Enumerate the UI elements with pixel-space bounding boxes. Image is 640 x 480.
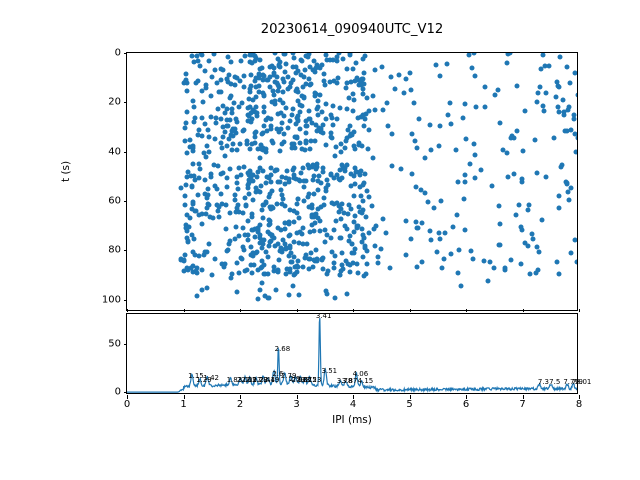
scatter-point bbox=[304, 139, 309, 144]
scatter-point bbox=[362, 71, 367, 76]
scatter-y-tick-label: 80 bbox=[75, 245, 121, 256]
scatter-point bbox=[297, 293, 302, 298]
scatter-point bbox=[463, 172, 468, 177]
scatter-point bbox=[183, 253, 188, 258]
scatter-point bbox=[290, 107, 295, 112]
scatter-point bbox=[324, 271, 329, 276]
scatter-point bbox=[260, 168, 265, 173]
scatter-point bbox=[244, 203, 249, 208]
scatter-x-tick-mark bbox=[240, 309, 241, 313]
scatter-point bbox=[455, 270, 460, 275]
scatter-point bbox=[295, 134, 300, 139]
scatter-point bbox=[246, 97, 251, 102]
scatter-point bbox=[299, 146, 304, 151]
scatter-point bbox=[283, 272, 288, 277]
scatter-point bbox=[222, 130, 227, 135]
scatter-point bbox=[472, 73, 477, 78]
scatter-point bbox=[294, 202, 299, 207]
scatter-point bbox=[205, 195, 210, 200]
scatter-point bbox=[472, 53, 477, 56]
scatter-point bbox=[354, 169, 359, 174]
scatter-point bbox=[284, 106, 289, 111]
scatter-point bbox=[288, 244, 293, 249]
scatter-point bbox=[278, 59, 283, 64]
scatter-point bbox=[386, 124, 391, 129]
scatter-point bbox=[332, 154, 337, 159]
scatter-point bbox=[260, 130, 265, 135]
scatter-point bbox=[302, 95, 307, 100]
scatter-point bbox=[213, 184, 218, 189]
scatter-point bbox=[338, 150, 343, 155]
scatter-point bbox=[390, 164, 395, 169]
scatter-point bbox=[542, 108, 547, 113]
scatter-point bbox=[467, 161, 472, 166]
scatter-point bbox=[254, 110, 259, 115]
scatter-point bbox=[260, 264, 265, 269]
scatter-point bbox=[472, 176, 477, 181]
scatter-point bbox=[497, 243, 502, 248]
scatter-point bbox=[249, 120, 254, 125]
scatter-point bbox=[514, 83, 519, 88]
scatter-point bbox=[307, 109, 312, 114]
scatter-point bbox=[462, 101, 467, 106]
scatter-point bbox=[245, 237, 250, 242]
scatter-point bbox=[253, 56, 258, 61]
scatter-point bbox=[246, 114, 251, 119]
scatter-point bbox=[328, 172, 333, 177]
scatter-point bbox=[359, 240, 364, 245]
scatter-point bbox=[225, 184, 230, 189]
scatter-point bbox=[557, 194, 562, 199]
scatter-point bbox=[264, 249, 269, 254]
scatter-point bbox=[259, 146, 264, 151]
scatter-point bbox=[209, 75, 214, 80]
histogram-axes: 050 012345678 1.151.291.421.832.012.092.… bbox=[126, 313, 578, 394]
scatter-point bbox=[537, 84, 542, 89]
scatter-y-tick-label: 100 bbox=[75, 294, 121, 305]
scatter-point bbox=[189, 232, 194, 237]
scatter-point bbox=[371, 94, 376, 99]
scatter-point bbox=[414, 145, 419, 150]
scatter-point bbox=[467, 53, 472, 57]
scatter-point bbox=[354, 75, 359, 80]
scatter-point bbox=[358, 172, 363, 177]
scatter-point bbox=[216, 107, 221, 112]
scatter-point bbox=[234, 260, 239, 265]
scatter-point bbox=[472, 152, 477, 157]
scatter-point bbox=[502, 267, 507, 272]
scatter-point bbox=[280, 89, 285, 94]
scatter-point bbox=[428, 228, 433, 233]
scatter-point bbox=[345, 262, 350, 267]
scatter-point bbox=[364, 96, 369, 101]
scatter-point bbox=[196, 192, 201, 197]
scatter-point bbox=[288, 118, 293, 123]
scatter-point-layer bbox=[127, 53, 577, 310]
scatter-point bbox=[291, 284, 296, 289]
scatter-point bbox=[428, 148, 433, 153]
scatter-point bbox=[373, 244, 378, 249]
scatter-point bbox=[315, 99, 320, 104]
scatter-point bbox=[486, 278, 491, 283]
scatter-point bbox=[360, 76, 365, 81]
matplotlib-figure: 20230614_090940UTC_V12 t (s) 02040608010… bbox=[0, 0, 640, 480]
histogram-peak-label: 3.87 bbox=[342, 377, 358, 385]
scatter-point bbox=[302, 185, 307, 190]
scatter-point bbox=[399, 166, 404, 171]
scatter-point bbox=[473, 105, 478, 110]
scatter-point bbox=[250, 61, 255, 66]
histogram-x-tick-mark bbox=[240, 395, 241, 399]
scatter-point bbox=[422, 155, 427, 160]
scatter-point bbox=[337, 178, 342, 183]
scatter-point bbox=[208, 93, 213, 98]
scatter-point bbox=[436, 144, 441, 149]
histogram-x-tick-label: 6 bbox=[451, 399, 481, 410]
scatter-point bbox=[234, 147, 239, 152]
scatter-point bbox=[519, 225, 524, 230]
scatter-point bbox=[301, 84, 306, 89]
scatter-point bbox=[321, 131, 326, 136]
histogram-x-tick-mark bbox=[127, 395, 128, 399]
scatter-point bbox=[338, 268, 343, 273]
scatter-point bbox=[309, 139, 314, 144]
scatter-point bbox=[226, 72, 231, 77]
scatter-point bbox=[358, 193, 363, 198]
histogram-peak-label: 7.3 bbox=[538, 378, 549, 386]
scatter-plot-axes: 020406080100 bbox=[126, 52, 578, 311]
scatter-point bbox=[217, 215, 222, 220]
histogram-x-tick-mark bbox=[353, 395, 354, 399]
scatter-point bbox=[496, 87, 501, 92]
scatter-point bbox=[274, 288, 279, 293]
scatter-point bbox=[536, 250, 541, 255]
scatter-point bbox=[351, 251, 356, 256]
scatter-point bbox=[355, 270, 360, 275]
scatter-point bbox=[513, 212, 518, 217]
scatter-point bbox=[219, 261, 224, 266]
scatter-point bbox=[202, 68, 207, 73]
scatter-x-tick-mark bbox=[523, 309, 524, 313]
scatter-point bbox=[281, 76, 286, 81]
scatter-point bbox=[351, 194, 356, 199]
scatter-point bbox=[221, 171, 226, 176]
scatter-point bbox=[287, 233, 292, 238]
scatter-point bbox=[211, 53, 216, 56]
scatter-point bbox=[301, 198, 306, 203]
scatter-point bbox=[297, 140, 302, 145]
scatter-point bbox=[245, 105, 250, 110]
scatter-point bbox=[575, 92, 577, 97]
scatter-point bbox=[181, 259, 186, 264]
scatter-point bbox=[573, 149, 577, 154]
scatter-point bbox=[312, 257, 317, 262]
scatter-point bbox=[438, 198, 443, 203]
scatter-point bbox=[497, 222, 502, 227]
scatter-point bbox=[412, 101, 417, 106]
scatter-point bbox=[323, 185, 328, 190]
scatter-point bbox=[437, 123, 442, 128]
scatter-point bbox=[469, 65, 474, 70]
scatter-point bbox=[200, 134, 205, 139]
histogram-x-tick-label: 8 bbox=[564, 399, 594, 410]
scatter-point bbox=[508, 257, 513, 262]
scatter-point bbox=[287, 292, 292, 297]
scatter-point bbox=[539, 67, 544, 72]
scatter-point bbox=[262, 294, 267, 299]
scatter-point bbox=[262, 93, 267, 98]
scatter-point bbox=[232, 237, 237, 242]
scatter-point bbox=[297, 127, 302, 132]
scatter-x-tick-mark bbox=[127, 309, 128, 313]
scatter-point bbox=[252, 235, 257, 240]
scatter-point bbox=[492, 93, 497, 98]
scatter-point bbox=[295, 263, 300, 268]
histogram-x-tick-label: 5 bbox=[395, 399, 425, 410]
scatter-point bbox=[299, 73, 304, 78]
scatter-point bbox=[247, 169, 252, 174]
scatter-point bbox=[478, 168, 483, 173]
scatter-point bbox=[539, 218, 544, 223]
scatter-point bbox=[566, 107, 571, 112]
scatter-point bbox=[447, 100, 452, 105]
scatter-point bbox=[239, 101, 244, 106]
scatter-y-tick-mark bbox=[124, 300, 128, 301]
scatter-point bbox=[320, 257, 325, 262]
scatter-point bbox=[229, 133, 234, 138]
scatter-point bbox=[229, 59, 234, 64]
scatter-point bbox=[260, 281, 265, 286]
scatter-point bbox=[185, 110, 190, 115]
scatter-point bbox=[211, 162, 216, 167]
scatter-point bbox=[379, 64, 384, 69]
scatter-point bbox=[191, 237, 196, 242]
scatter-point bbox=[557, 54, 562, 59]
scatter-point bbox=[297, 109, 302, 114]
scatter-point bbox=[516, 203, 521, 208]
scatter-point bbox=[234, 225, 239, 230]
histogram-x-tick-label: 4 bbox=[338, 399, 368, 410]
histogram-x-tick-label: 0 bbox=[112, 399, 142, 410]
scatter-point bbox=[219, 146, 224, 151]
scatter-point bbox=[440, 266, 445, 271]
scatter-point bbox=[535, 100, 540, 105]
scatter-point bbox=[188, 216, 193, 221]
scatter-point bbox=[361, 255, 366, 260]
scatter-point bbox=[324, 177, 329, 182]
scatter-point bbox=[278, 149, 283, 154]
scatter-point bbox=[361, 113, 366, 118]
scatter-point bbox=[561, 112, 566, 117]
scatter-point bbox=[302, 68, 307, 73]
histogram-peak-label: 3.51 bbox=[322, 367, 338, 375]
scatter-point bbox=[189, 53, 194, 58]
scatter-point bbox=[202, 178, 207, 183]
scatter-point bbox=[278, 248, 283, 253]
scatter-point bbox=[235, 175, 240, 180]
scatter-point bbox=[265, 230, 270, 235]
scatter-point bbox=[205, 127, 210, 132]
scatter-y-tick-mark bbox=[124, 53, 128, 54]
scatter-point bbox=[236, 166, 241, 171]
scatter-point bbox=[184, 213, 189, 218]
scatter-point bbox=[250, 197, 255, 202]
scatter-point bbox=[294, 87, 299, 92]
scatter-point bbox=[308, 229, 313, 234]
scatter-point bbox=[310, 178, 315, 183]
scatter-point bbox=[313, 66, 318, 71]
scatter-point bbox=[468, 249, 473, 254]
scatter-point bbox=[245, 219, 250, 224]
scatter-point bbox=[324, 142, 329, 147]
scatter-point bbox=[332, 265, 337, 270]
scatter-point bbox=[531, 237, 536, 242]
scatter-point bbox=[337, 210, 342, 215]
scatter-point bbox=[560, 97, 565, 102]
scatter-point bbox=[313, 90, 318, 95]
scatter-point bbox=[235, 289, 240, 294]
histogram-x-tick-label: 2 bbox=[225, 399, 255, 410]
scatter-point bbox=[332, 296, 337, 301]
scatter-point bbox=[207, 135, 212, 140]
scatter-point bbox=[340, 57, 345, 62]
scatter-point bbox=[207, 214, 212, 219]
scatter-point bbox=[445, 62, 450, 67]
scatter-point bbox=[250, 251, 255, 256]
scatter-point bbox=[218, 192, 223, 197]
histogram-peak-label: 7.5 bbox=[549, 378, 560, 386]
scatter-point bbox=[223, 111, 228, 116]
scatter-point bbox=[275, 241, 280, 246]
histogram-x-tick-label: 1 bbox=[169, 399, 199, 410]
scatter-point bbox=[353, 214, 358, 219]
scatter-point bbox=[564, 181, 569, 186]
scatter-point bbox=[281, 114, 286, 119]
scatter-point bbox=[192, 60, 197, 65]
scatter-point bbox=[337, 106, 342, 111]
scatter-point bbox=[347, 203, 352, 208]
scatter-point bbox=[228, 94, 233, 99]
scatter-point bbox=[342, 211, 347, 216]
scatter-point bbox=[353, 146, 358, 151]
scatter-point bbox=[324, 232, 329, 237]
scatter-point bbox=[278, 126, 283, 131]
scatter-point bbox=[258, 232, 263, 237]
scatter-point bbox=[205, 144, 210, 149]
scatter-point bbox=[184, 88, 189, 93]
scatter-point bbox=[535, 170, 540, 175]
scatter-point bbox=[520, 176, 525, 181]
scatter-point bbox=[456, 247, 461, 252]
scatter-point bbox=[297, 240, 302, 245]
scatter-point bbox=[432, 206, 437, 211]
scatter-point bbox=[271, 141, 276, 146]
scatter-point bbox=[242, 74, 247, 79]
scatter-point bbox=[323, 240, 328, 245]
scatter-point bbox=[203, 154, 208, 159]
scatter-x-tick-mark bbox=[184, 309, 185, 313]
scatter-point bbox=[182, 138, 187, 143]
scatter-point bbox=[329, 236, 334, 241]
scatter-point bbox=[360, 144, 365, 149]
scatter-point bbox=[185, 239, 190, 244]
scatter-point bbox=[311, 191, 316, 196]
scatter-point bbox=[214, 120, 219, 125]
scatter-point bbox=[333, 219, 338, 224]
scatter-point bbox=[572, 237, 577, 242]
scatter-point bbox=[242, 165, 247, 170]
scatter-point bbox=[343, 145, 348, 150]
scatter-point bbox=[547, 64, 552, 69]
scatter-point bbox=[218, 77, 223, 82]
scatter-point bbox=[202, 249, 207, 254]
scatter-y-tick-mark bbox=[124, 152, 128, 153]
scatter-point bbox=[345, 227, 350, 232]
scatter-point bbox=[351, 260, 356, 265]
scatter-point bbox=[261, 124, 266, 129]
scatter-point bbox=[572, 70, 577, 75]
scatter-point bbox=[366, 147, 371, 152]
scatter-point bbox=[275, 225, 280, 230]
scatter-point bbox=[511, 172, 516, 177]
scatter-point bbox=[373, 68, 378, 73]
scatter-point bbox=[434, 250, 439, 255]
scatter-point bbox=[425, 199, 430, 204]
scatter-point bbox=[195, 132, 200, 137]
scatter-point bbox=[339, 217, 344, 222]
scatter-point bbox=[367, 195, 372, 200]
scatter-point bbox=[206, 149, 211, 154]
scatter-point bbox=[303, 124, 308, 129]
histogram-x-tick-mark bbox=[579, 395, 580, 399]
scatter-point bbox=[282, 132, 287, 137]
scatter-point bbox=[216, 163, 221, 168]
scatter-point bbox=[575, 135, 577, 140]
scatter-point bbox=[412, 138, 417, 143]
scatter-point bbox=[541, 53, 546, 58]
scatter-point bbox=[441, 257, 446, 262]
scatter-point bbox=[197, 176, 202, 181]
scatter-point bbox=[371, 156, 376, 161]
scatter-point bbox=[442, 231, 447, 236]
scatter-point bbox=[348, 270, 353, 275]
scatter-x-tick-mark bbox=[297, 309, 298, 313]
scatter-point bbox=[348, 183, 353, 188]
scatter-point bbox=[571, 112, 576, 117]
scatter-point bbox=[459, 283, 464, 288]
scatter-point bbox=[437, 236, 442, 241]
scatter-point bbox=[198, 167, 203, 172]
scatter-point bbox=[225, 175, 230, 180]
scatter-point bbox=[321, 196, 326, 201]
scatter-point bbox=[223, 153, 228, 158]
scatter-point bbox=[193, 115, 198, 120]
scatter-point bbox=[483, 104, 488, 109]
scatter-point bbox=[497, 121, 502, 126]
scatter-point bbox=[427, 123, 432, 128]
scatter-point bbox=[275, 168, 280, 173]
scatter-point bbox=[241, 247, 246, 252]
scatter-point bbox=[285, 169, 290, 174]
scatter-point bbox=[472, 141, 477, 146]
scatter-point bbox=[463, 179, 468, 184]
scatter-point bbox=[234, 180, 239, 185]
scatter-point bbox=[420, 259, 425, 264]
scatter-point bbox=[335, 117, 340, 122]
scatter-point bbox=[310, 121, 315, 126]
scatter-y-axis-label: t (s) bbox=[60, 161, 72, 182]
scatter-point bbox=[491, 266, 496, 271]
